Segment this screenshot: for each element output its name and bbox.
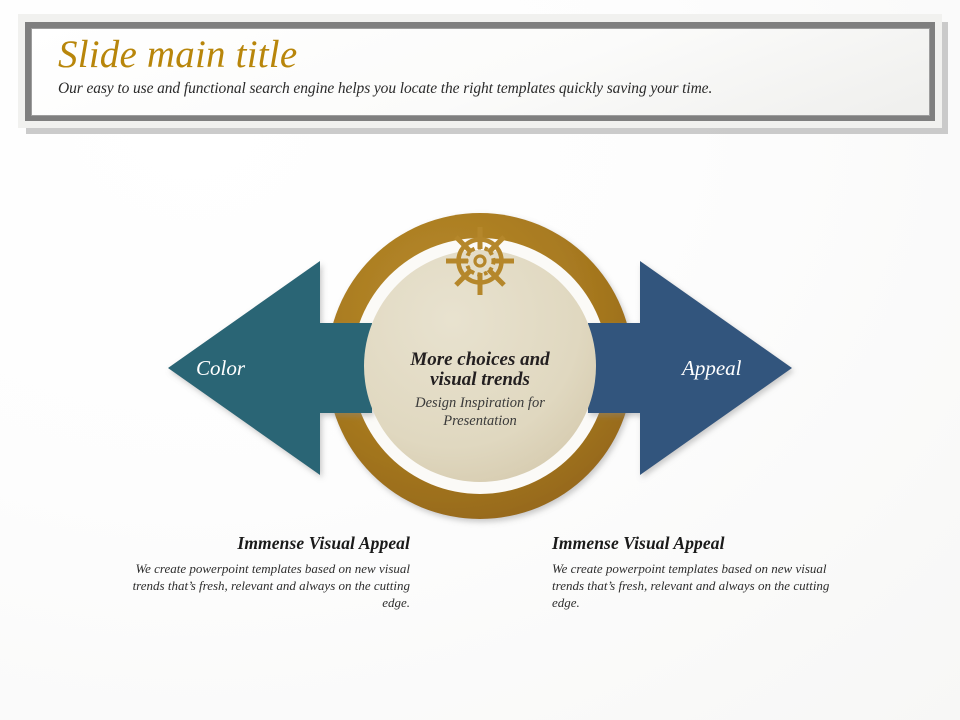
- center-headline-line2: visual trends: [430, 369, 530, 390]
- slide-canvas: Slide main title Our easy to use and fun…: [0, 0, 960, 720]
- caption-left-title: Immense Visual Appeal: [110, 532, 410, 554]
- diagram-area: Color Appeal: [0, 160, 960, 560]
- caption-right-title: Immense Visual Appeal: [552, 532, 852, 554]
- left-arrow[interactable]: Color: [168, 261, 372, 475]
- caption-right: Immense Visual Appeal We create powerpoi…: [552, 532, 852, 611]
- title-block: Slide main title Our easy to use and fun…: [31, 28, 930, 116]
- caption-left-body: We create powerpoint templates based on …: [110, 560, 410, 611]
- page-subtitle: Our easy to use and functional search en…: [58, 78, 929, 100]
- page-title: Slide main title: [58, 32, 929, 78]
- center-subline-line2: Presentation: [442, 413, 517, 429]
- left-arrow-label: Color: [196, 356, 246, 380]
- right-arrow-label: Appeal: [680, 356, 742, 380]
- right-arrow[interactable]: Appeal: [588, 261, 792, 475]
- center-headline-line1: More choices and: [409, 349, 550, 370]
- caption-row: Immense Visual Appeal We create powerpoi…: [0, 532, 960, 652]
- center-subline-line1: Design Inspiration for: [414, 395, 545, 411]
- caption-left: Immense Visual Appeal We create powerpoi…: [110, 532, 410, 611]
- caption-right-body: We create powerpoint templates based on …: [552, 560, 852, 611]
